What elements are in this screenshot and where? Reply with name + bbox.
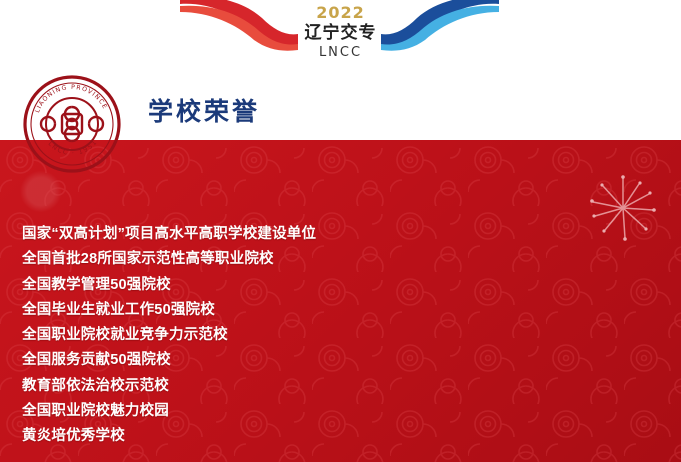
honors-panel: 国家“双高计划”项目高水平高职学校建设单位 全国首批28所国家示范性高等职业院校…	[0, 140, 681, 462]
honors-list: 国家“双高计划”项目高水平高职学校建设单位 全国首批28所国家示范性高等职业院校…	[22, 222, 661, 450]
school-seal-icon: LIAONING PROVINCE LNCC · 1951	[22, 74, 122, 174]
list-item: 全国服务贡献50强院校	[22, 348, 661, 373]
header-school-abbr: LNCC	[0, 44, 681, 62]
list-item: 全国首批28所国家示范性高等职业院校	[22, 247, 661, 272]
page-title: 学校荣誉	[148, 92, 260, 128]
list-item: 国家“双高计划”项目高水平高职学校建设单位	[22, 222, 661, 247]
header-school-name: 辽宁交专	[0, 22, 681, 44]
list-item: 全国职业院校魅力校园	[22, 399, 661, 424]
list-item: 教育部依法治校示范校	[22, 374, 661, 399]
header-center-block: 2022 辽宁交专 LNCC	[0, 4, 681, 62]
list-item: 全国职业院校就业竞争力示范校	[22, 323, 661, 348]
page-header: 2022 辽宁交专 LNCC	[0, 0, 681, 78]
list-item: 全国教学管理50强院校	[22, 273, 661, 298]
header-year: 2022	[0, 4, 681, 22]
section-title-row: LIAONING PROVINCE LNCC · 1951 学校荣誉	[0, 78, 681, 140]
list-item: 全国毕业生就业工作50强院校	[22, 298, 661, 323]
list-item: 黄炎培优秀学校	[22, 424, 661, 449]
